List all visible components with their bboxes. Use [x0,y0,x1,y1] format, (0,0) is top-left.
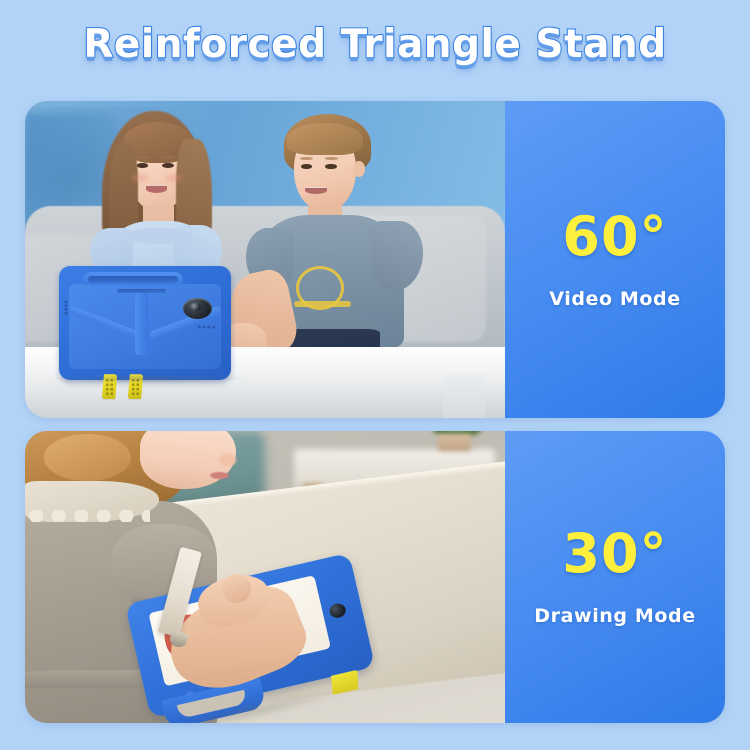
camera-lens-icon [189,303,200,311]
feature-card-video-mode: 60° Video Mode [25,101,725,418]
girl2-nose [219,454,235,466]
girl-eyebrow-left [136,156,149,159]
case-handle-cutout [88,276,178,283]
girl-eyebrow-right [161,156,174,159]
product-feature-image: Reinforced Triangle Stand [0,0,750,750]
photo-video-mode [25,101,505,418]
girl2-lips [210,472,229,479]
boy-fringe [287,123,364,155]
info-panel-drawing-mode: 30° Drawing Mode [505,431,725,723]
girl-eye-right [162,163,174,168]
girl2-hair-bun [44,434,130,481]
girl-collar [126,228,193,244]
angle-value-video: 60° [562,210,667,264]
case-center-rib [135,291,149,355]
case-contact-shadow [49,374,251,384]
mode-label-video: Video Mode [549,288,681,310]
plant-pot [438,434,472,452]
page-title-text: Reinforced Triangle Stand [83,22,666,67]
boy-tshirt-graphic-bar [294,301,352,307]
info-panel-video-mode: 60° Video Mode [505,101,725,418]
angle-value-drawing: 30° [562,527,667,581]
photo-drawing-mode [25,431,505,723]
table-leg [443,374,486,418]
case-stylus-slot [117,289,165,294]
boy-eye-right [325,164,336,168]
case-side-dots [64,300,68,315]
girl2-collar-lace-trim [25,510,150,522]
boy-eye-left [301,164,312,168]
girl-cheek-left [132,174,148,182]
tablet-case-upright [59,266,232,380]
page-title: Reinforced Triangle Stand [0,22,750,67]
girl-eye-left [137,163,149,168]
feature-card-drawing-mode: 30° Drawing Mode [25,431,725,723]
case-speaker-dots [197,325,216,328]
mode-label-drawing: Drawing Mode [534,605,695,627]
